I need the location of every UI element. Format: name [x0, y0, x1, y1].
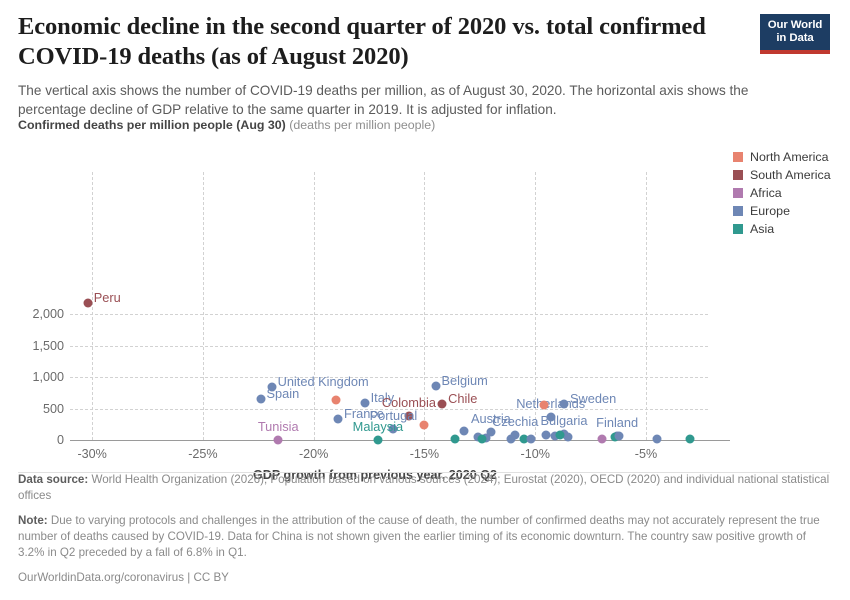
x-tick-label: -25%	[188, 447, 217, 461]
legend-label: North America	[750, 150, 829, 164]
x-gridline	[646, 172, 647, 440]
legend-swatch-icon	[733, 206, 743, 216]
data-point[interactable]	[615, 432, 624, 441]
chart-legend: North AmericaSouth AmericaAfricaEuropeAs…	[733, 148, 848, 238]
data-point[interactable]	[526, 434, 535, 443]
legend-item[interactable]: North America	[733, 148, 848, 165]
credit-line[interactable]: OurWorldinData.org/coronavirus | CC BY	[18, 570, 830, 586]
note-text: Due to varying protocols and challenges …	[18, 514, 820, 559]
x-axis-line	[70, 440, 730, 441]
legend-label: South America	[750, 168, 831, 182]
x-gridline	[314, 172, 315, 440]
chart-page: Economic decline in the second quarter o…	[0, 0, 850, 600]
x-tick-label: -20%	[299, 447, 328, 461]
y-axis-unit: (deaths per million people)	[289, 118, 435, 132]
y-tick-label: 500	[43, 402, 64, 416]
legend-item[interactable]: Europe	[733, 202, 848, 219]
data-point[interactable]	[686, 435, 695, 444]
x-gridline	[92, 172, 93, 440]
data-point[interactable]	[83, 299, 92, 308]
legend-item[interactable]: Asia	[733, 220, 848, 237]
legend-swatch-icon	[733, 224, 743, 234]
y-gridline	[70, 346, 708, 347]
data-point-label: Belgium	[442, 373, 488, 388]
data-point-label: Chile	[448, 391, 477, 406]
y-tick-label: 1,000	[32, 370, 64, 384]
data-point[interactable]	[334, 415, 343, 424]
legend-label: Asia	[750, 222, 774, 236]
data-point[interactable]	[597, 435, 606, 444]
data-point[interactable]	[373, 435, 382, 444]
data-point-label: Netherlands	[516, 396, 585, 411]
note-line: Note: Due to varying protocols and chall…	[18, 513, 830, 561]
x-gridline	[203, 172, 204, 440]
data-point[interactable]	[438, 400, 447, 409]
y-gridline	[70, 314, 708, 315]
data-point-label: Malaysia	[353, 419, 404, 434]
y-gridline	[70, 377, 708, 378]
data-point[interactable]	[478, 435, 487, 444]
page-title: Economic decline in the second quarter o…	[18, 12, 708, 72]
owid-logo[interactable]: Our World in Data	[760, 14, 830, 54]
legend-item[interactable]: Africa	[733, 184, 848, 201]
chart-subtitle: The vertical axis shows the number of CO…	[18, 82, 818, 119]
data-point[interactable]	[564, 432, 573, 441]
logo-line-2: in Data	[760, 32, 830, 45]
legend-item[interactable]: South America	[733, 166, 848, 183]
legend-swatch-icon	[733, 188, 743, 198]
x-tick-label: -10%	[521, 447, 550, 461]
data-point[interactable]	[506, 434, 515, 443]
chart-footer: Data source: World Health Organization (…	[18, 472, 830, 595]
legend-swatch-icon	[733, 170, 743, 180]
data-point-label: Spain	[267, 386, 300, 401]
data-point[interactable]	[420, 420, 429, 429]
data-point[interactable]	[274, 435, 283, 444]
data-point[interactable]	[460, 426, 469, 435]
plot-area[interactable]: 05001,0001,5002,000-30%-25%-20%-15%-10%-…	[0, 140, 850, 468]
legend-label: Europe	[750, 204, 790, 218]
data-point[interactable]	[540, 401, 549, 410]
data-point[interactable]	[431, 382, 440, 391]
y-axis-title-text: Confirmed deaths per million people (Aug…	[18, 118, 286, 132]
data-point-label: Finland	[596, 415, 638, 430]
y-tick-label: 1,500	[32, 339, 64, 353]
data-point[interactable]	[331, 395, 340, 404]
data-point-label: Bulgaria	[541, 413, 588, 428]
data-point[interactable]	[653, 434, 662, 443]
chart-header: Economic decline in the second quarter o…	[18, 12, 830, 119]
data-source-label: Data source:	[18, 473, 88, 486]
note-label: Note:	[18, 514, 48, 527]
logo-line-1: Our World	[760, 19, 830, 32]
y-tick-label: 0	[57, 433, 64, 447]
y-axis-title: Confirmed deaths per million people (Aug…	[18, 118, 435, 132]
data-point[interactable]	[256, 395, 265, 404]
data-point-label: Peru	[94, 290, 121, 305]
x-tick-label: -30%	[77, 447, 106, 461]
data-source-line: Data source: World Health Organization (…	[18, 472, 830, 504]
x-tick-label: -15%	[410, 447, 439, 461]
data-source-text: World Health Organization (2026); Popula…	[18, 473, 829, 502]
legend-swatch-icon	[733, 152, 743, 162]
y-tick-label: 2,000	[32, 307, 64, 321]
data-point[interactable]	[542, 431, 551, 440]
x-tick-label: -5%	[635, 447, 657, 461]
data-point-label: Czechia	[492, 414, 538, 429]
data-point-label: Tunisia	[258, 419, 299, 434]
scatter-chart: Confirmed deaths per million people (Aug…	[0, 118, 850, 468]
data-point[interactable]	[555, 430, 564, 439]
data-point[interactable]	[451, 434, 460, 443]
legend-label: Africa	[750, 186, 782, 200]
